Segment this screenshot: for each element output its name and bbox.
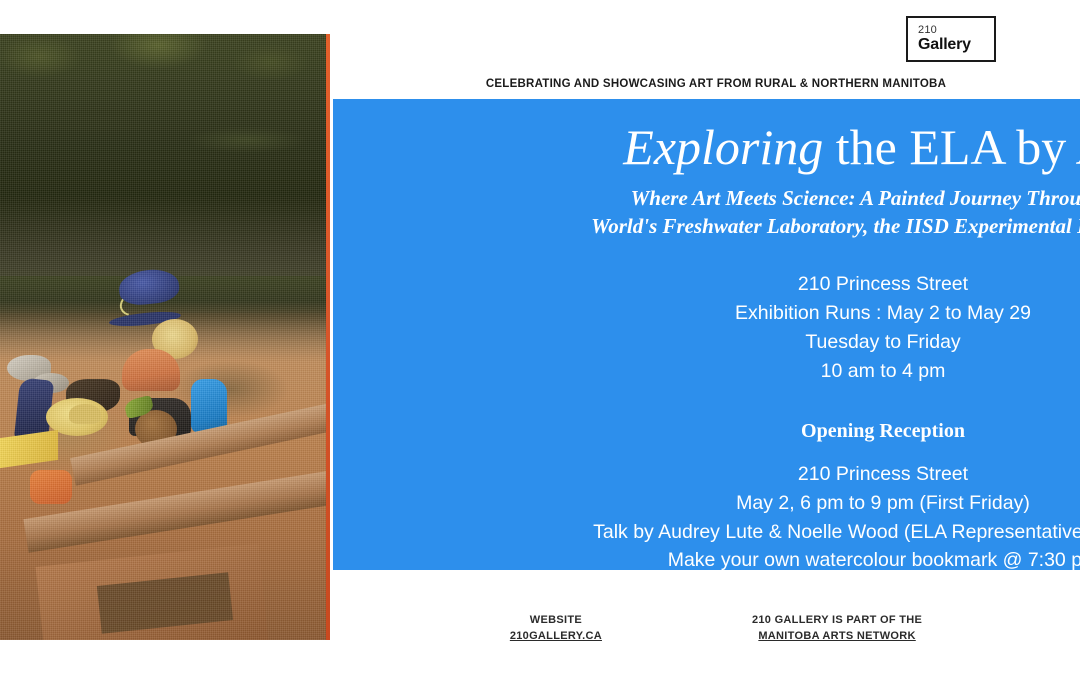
exhibition-title-middle: the ELA by xyxy=(823,119,1079,175)
opening-reception-details: 210 Princess Street May 2, 6 pm to 9 pm … xyxy=(333,460,1080,575)
exhibition-title-emphasis: Exploring xyxy=(623,119,823,175)
footer-network-link[interactable]: MANITOBA ARTS NETWORK xyxy=(752,629,922,645)
gallery-logo[interactable]: 210 Gallery xyxy=(906,16,996,62)
artwork-right-edge-strip xyxy=(326,34,330,640)
footer-website-link[interactable]: 210GALLERY.CA xyxy=(510,629,602,645)
exhibition-subtitle: Where Art Meets Science: A Painted Journ… xyxy=(333,185,1080,240)
exhibition-title: Exploring the ELA by Art xyxy=(333,99,1080,175)
footer-network-label: 210 GALLERY IS PART OF THE xyxy=(752,613,922,629)
opening-reception-heading: Opening Reception xyxy=(333,420,1080,443)
footer-website-block: WEBSITE 210GALLERY.CA xyxy=(510,613,602,645)
artwork-orange-coat xyxy=(30,470,72,504)
reception-line: Talk by Audrey Lute & Noelle Wood (ELA R… xyxy=(333,518,1080,547)
artwork-yellow-hat-dome xyxy=(69,404,101,424)
exhibition-info-panel: Exploring the ELA by Art Where Art Meets… xyxy=(333,99,1080,570)
detail-line: 210 Princess Street xyxy=(333,270,1080,299)
poster-canvas: 210 Gallery CELEBRATING AND SHOWCASING A… xyxy=(0,0,1080,675)
reception-line: 210 Princess Street xyxy=(333,460,1080,489)
exhibition-details: 210 Princess Street Exhibition Runs : Ma… xyxy=(333,270,1080,385)
gallery-tagline: CELEBRATING AND SHOWCASING ART FROM RURA… xyxy=(0,78,1080,90)
exhibition-artwork-image xyxy=(0,34,330,640)
logo-box: 210 Gallery xyxy=(906,16,996,62)
footer-website-label: WEBSITE xyxy=(510,613,602,629)
poster-footer: WEBSITE 210GALLERY.CA 210 GALLERY IS PAR… xyxy=(0,613,1080,653)
reception-line: May 2, 6 pm to 9 pm (First Friday) xyxy=(333,489,1080,518)
detail-line: 10 am to 4 pm xyxy=(333,357,1080,386)
logo-number: 210 xyxy=(918,24,994,36)
reception-line: Make your own watercolour bookmark @ 7:3… xyxy=(333,546,1080,575)
exhibition-subtitle-line-1: Where Art Meets Science: A Painted Journ… xyxy=(631,186,1080,210)
exhibition-subtitle-line-2: World's Freshwater Laboratory, the IISD … xyxy=(591,214,1080,238)
logo-wordmark: Gallery xyxy=(918,36,994,54)
detail-line: Exhibition Runs : May 2 to May 29 xyxy=(333,299,1080,328)
artwork-orange-torso xyxy=(122,349,180,391)
detail-line: Tuesday to Friday xyxy=(333,328,1080,357)
footer-network-block: 210 GALLERY IS PART OF THE MANITOBA ARTS… xyxy=(752,613,922,645)
exhibition-info-content: Exploring the ELA by Art Where Art Meets… xyxy=(333,99,1080,570)
